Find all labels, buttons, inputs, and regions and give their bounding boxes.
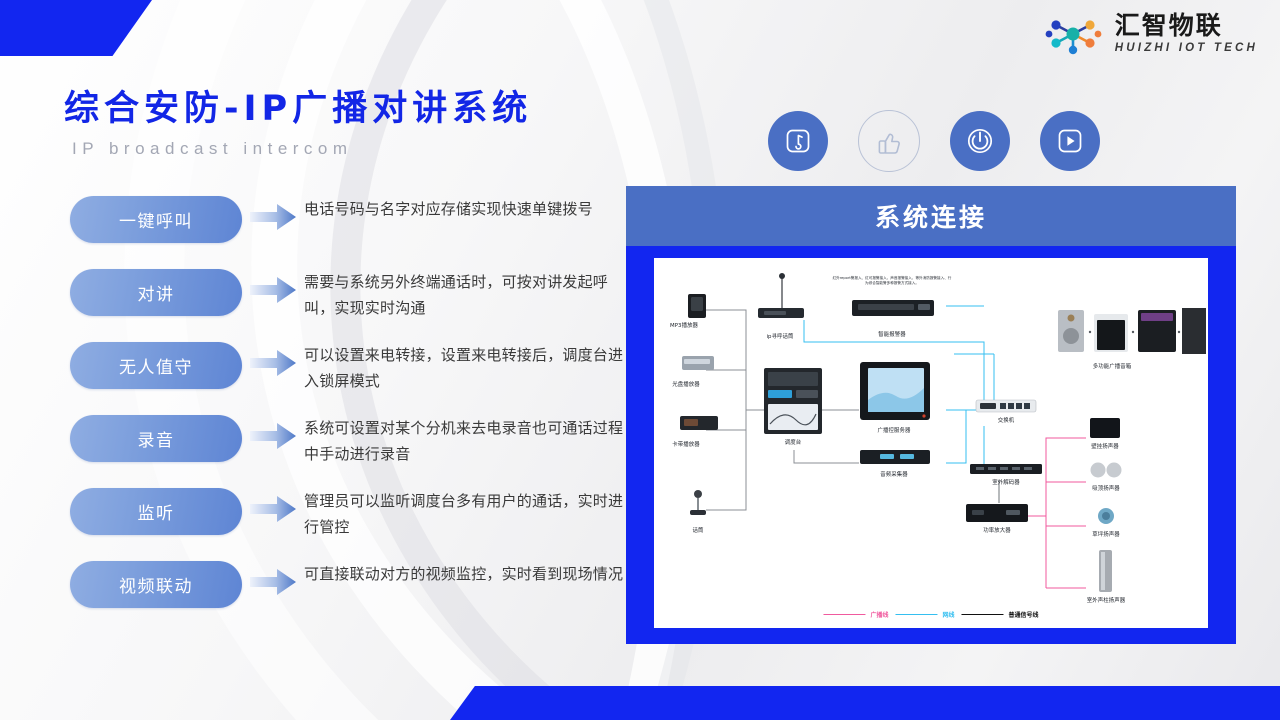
feature-icon-row bbox=[768, 110, 1100, 172]
feature-row: 视频联动 可直接联动对方的视频监控，实时看到现场情况 bbox=[70, 561, 630, 634]
arrow-icon bbox=[242, 415, 304, 451]
panel-title: 系统连接 bbox=[626, 186, 1236, 246]
feature-description: 可以设置来电转接，设置来电转接后，调度台进入锁屏模式 bbox=[304, 342, 630, 395]
system-connection-panel: 系统连接 bbox=[626, 186, 1236, 644]
legend-item-broadcast-line: 广播线 bbox=[823, 610, 888, 619]
feature-description: 可直接联动对方的视频监控，实时看到现场情况 bbox=[304, 561, 630, 588]
diagram-label: MP3播放器 bbox=[670, 321, 698, 329]
page-subtitle: IP broadcast intercom bbox=[72, 139, 353, 159]
diagram-label: 草坪扬声器 bbox=[1092, 530, 1119, 538]
arrow-icon bbox=[242, 561, 304, 597]
feature-row: 对讲 需要与系统另外终端通话时，可按对讲发起呼叫，实现实时沟通 bbox=[70, 269, 630, 342]
diagram-label: 室外解码器 bbox=[992, 478, 1019, 486]
diagram-label: 交换机 bbox=[998, 416, 1014, 424]
arrow-icon bbox=[242, 196, 304, 232]
power-icon-button[interactable] bbox=[950, 111, 1010, 171]
legend-item-signal-line: 普通信号线 bbox=[962, 610, 1039, 619]
diagram-label: ip寻呼话筒 bbox=[766, 332, 793, 340]
feature-description: 管理员可以监听调度台多有用户的通话，实时进行管控 bbox=[304, 488, 630, 541]
diagram-label: 调度台 bbox=[785, 438, 801, 446]
diagram-label: 吸顶扬声器 bbox=[1092, 484, 1119, 492]
brand-name-cn: 汇智物联 bbox=[1115, 13, 1258, 38]
top-left-accent-shape bbox=[0, 0, 152, 56]
feature-pill-monitoring[interactable]: 监听 bbox=[70, 488, 242, 535]
page-title: 综合安防-IP广播对讲系统 bbox=[64, 80, 532, 131]
diagram-note: 红外report警报入、红可报警接入、声音报警接入、等外消防报警接入、行为综合智… bbox=[832, 276, 952, 286]
arrow-icon bbox=[242, 488, 304, 524]
feature-row: 录音 系统可设置对某个分机来去电录音也可通话过程中手动进行录音 bbox=[70, 415, 630, 488]
legend-item-network-line: 网线 bbox=[895, 610, 954, 619]
bottom-right-accent-shape bbox=[450, 686, 1280, 720]
diagram-canvas bbox=[654, 258, 1208, 628]
feature-pill-video-linkage[interactable]: 视频联动 bbox=[70, 561, 242, 608]
legend-swatch bbox=[895, 614, 937, 615]
diagram-label: 功率放大器 bbox=[983, 526, 1010, 534]
legend-label: 广播线 bbox=[870, 610, 888, 619]
diagram-label: 音频采集器 bbox=[880, 470, 907, 478]
feature-pill-unattended[interactable]: 无人值守 bbox=[70, 342, 242, 389]
legend-swatch bbox=[823, 614, 865, 615]
diagram-label: 广播控服务器 bbox=[878, 426, 911, 434]
feature-row: 监听 管理员可以监听调度台多有用户的通话，实时进行管控 bbox=[70, 488, 630, 561]
feature-row: 一键呼叫 电话号码与名字对应存储实现快速单键拨号 bbox=[70, 196, 630, 269]
brand-logo: 汇智物联 HUIZHI IOT TECH bbox=[1042, 12, 1258, 56]
arrow-icon bbox=[242, 342, 304, 378]
diagram-label: 室外声柱扬声器 bbox=[1087, 596, 1125, 604]
diagram-label: 多功能广播音箱 bbox=[1093, 362, 1131, 370]
legend-label: 普通信号线 bbox=[1009, 610, 1039, 619]
thumbs-up-icon-button[interactable] bbox=[858, 110, 920, 172]
legend-label: 网线 bbox=[942, 610, 954, 619]
feature-pill-recording[interactable]: 录音 bbox=[70, 415, 242, 462]
brand-name-en: HUIZHI IOT TECH bbox=[1115, 43, 1258, 55]
legend-swatch bbox=[962, 614, 1004, 615]
diagram-label: 话筒 bbox=[693, 526, 704, 534]
music-note-icon-button[interactable] bbox=[768, 111, 828, 171]
feature-description: 需要与系统另外终端通话时，可按对讲发起呼叫，实现实时沟通 bbox=[304, 269, 630, 322]
diagram-label: 光盘播放器 bbox=[672, 380, 699, 388]
play-icon-button[interactable] bbox=[1040, 111, 1100, 171]
diagram-legend: 广播线 网线 普通信号线 bbox=[823, 610, 1038, 619]
diagram-label: 壁挂扬声器 bbox=[1091, 442, 1118, 450]
diagram-label: 智能报警器 bbox=[878, 330, 905, 338]
molecule-logo-icon bbox=[1042, 12, 1106, 56]
slide-root: 汇智物联 HUIZHI IOT TECH 综合安防-IP广播对讲系统 IP br… bbox=[0, 0, 1280, 720]
arrow-icon bbox=[242, 269, 304, 305]
feature-description: 系统可设置对某个分机来去电录音也可通话过程中手动进行录音 bbox=[304, 415, 630, 468]
feature-pill-one-key-call[interactable]: 一键呼叫 bbox=[70, 196, 242, 243]
feature-list: 一键呼叫 电话号码与名字对应存储实现快速单键拨号 对讲 需要与系统另外终端通话时… bbox=[70, 196, 630, 634]
system-diagram: 红外report警报入、红可报警接入、声音报警接入、等外消防报警接入、行为综合智… bbox=[654, 258, 1208, 628]
feature-pill-intercom[interactable]: 对讲 bbox=[70, 269, 242, 316]
diagram-label: 卡带播放器 bbox=[672, 440, 699, 448]
feature-description: 电话号码与名字对应存储实现快速单键拨号 bbox=[304, 196, 630, 223]
feature-row: 无人值守 可以设置来电转接，设置来电转接后，调度台进入锁屏模式 bbox=[70, 342, 630, 415]
